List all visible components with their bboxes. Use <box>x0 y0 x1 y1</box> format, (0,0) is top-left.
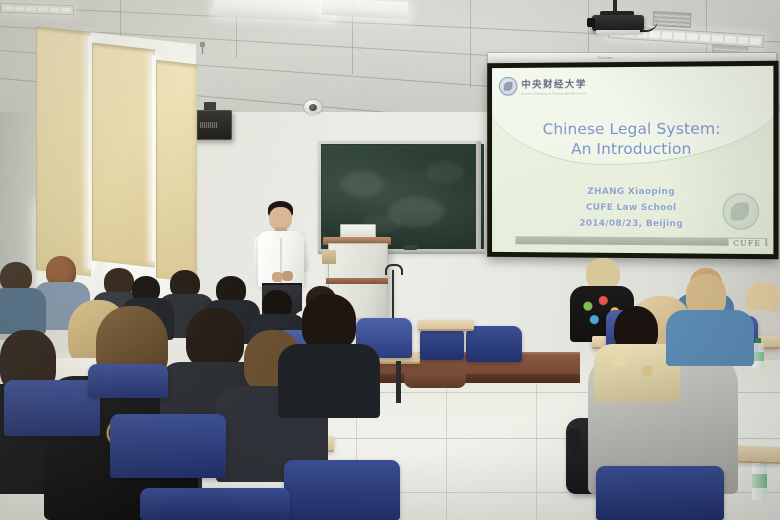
ceiling-projector <box>592 15 644 31</box>
projection-screen: 中央财经大学 Central University of Finance and… <box>487 61 778 260</box>
window-blind-1[interactable] <box>36 26 91 276</box>
sprinkler-head <box>199 42 206 54</box>
platform-step <box>404 372 466 388</box>
window-blind-3[interactable] <box>156 60 197 283</box>
slide-title: Chinese Legal System: An Introduction <box>492 118 773 159</box>
classroom-chair[interactable] <box>4 380 100 436</box>
cufe-crest-icon <box>723 193 760 230</box>
window-blind-2[interactable] <box>92 42 155 267</box>
classroom-chair[interactable] <box>596 466 724 520</box>
slide-title-line-1: Chinese Legal System: <box>492 118 773 139</box>
chalkboard-eraser <box>404 245 417 250</box>
classroom-chair[interactable] <box>466 326 522 362</box>
classroom-chair[interactable] <box>140 488 290 520</box>
classroom-chair[interactable] <box>420 326 464 360</box>
projector-lens <box>587 18 595 27</box>
presentation-slide: 中央财经大学 Central University of Finance and… <box>492 66 773 254</box>
university-name-english: Central University of Finance and Econom… <box>521 92 587 95</box>
classroom-chair[interactable] <box>110 414 226 478</box>
slide-title-line-2: An Introduction <box>492 139 773 160</box>
screen-brand-label: Screen <box>598 55 613 60</box>
podium-cups <box>322 250 336 264</box>
lecture-hall-photo: Screen 中央财经大学 Central University of Fina… <box>0 0 780 520</box>
university-logo: 中央财经大学 Central University of Finance and… <box>499 76 587 95</box>
classroom-chair[interactable] <box>88 364 168 398</box>
dome-camera-icon <box>303 92 321 116</box>
university-seal-icon <box>499 77 518 96</box>
slide-footer-wordmark: CUFE <box>729 239 765 248</box>
university-name-chinese: 中央财经大学 <box>521 76 587 90</box>
student-desk <box>418 320 474 331</box>
classroom-chair[interactable] <box>284 460 400 520</box>
microphone-stand <box>392 270 394 322</box>
air-vent <box>653 11 692 28</box>
gooseneck-microphone <box>385 264 403 275</box>
presenter-right-hand <box>282 271 293 281</box>
podium-shelf <box>326 278 388 284</box>
chalkboard-right-rail <box>476 141 481 254</box>
